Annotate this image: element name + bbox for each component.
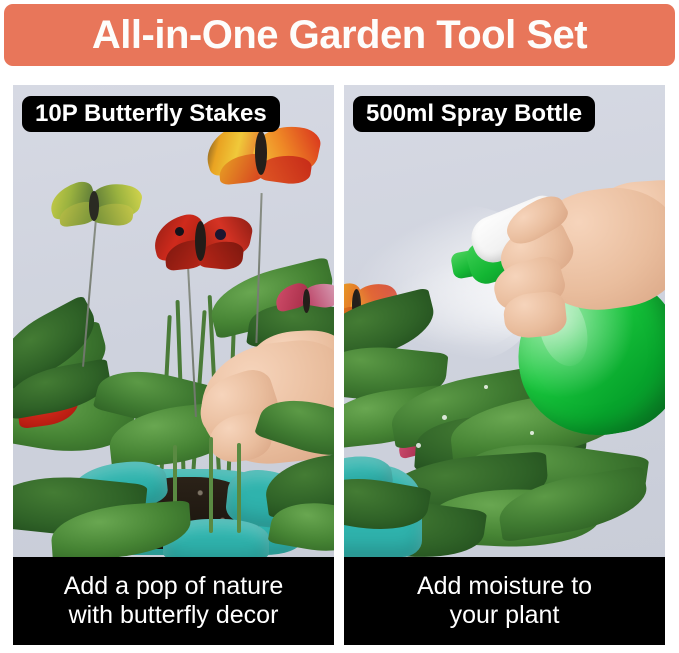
water-droplet <box>530 431 534 435</box>
water-droplet <box>416 443 421 448</box>
panel-row: 10P Butterfly Stakes Add a pop of nature… <box>13 85 666 645</box>
panel-spray-bottle: 500ml Spray Bottle Add moisture to your … <box>344 85 665 645</box>
photo-butterfly-stakes <box>13 85 334 557</box>
butterfly-stake-red <box>153 209 253 275</box>
butterfly-stake-small <box>275 281 334 321</box>
water-droplet <box>484 385 488 389</box>
product-image: All-in-One Garden Tool Set <box>0 0 679 653</box>
butterfly-body <box>89 191 99 221</box>
panel-label-spray-bottle: 500ml Spray Bottle <box>353 96 595 132</box>
panel-label-text: 500ml Spray Bottle <box>366 102 582 126</box>
panel-label-text: 10P Butterfly Stakes <box>35 102 267 126</box>
butterfly-body <box>303 289 310 313</box>
banner-title: All-in-One Garden Tool Set <box>92 15 587 55</box>
wing-spot <box>215 229 226 240</box>
panel-caption-text: Add a pop of nature with butterfly decor <box>58 572 290 631</box>
panel-butterfly-stakes: 10P Butterfly Stakes Add a pop of nature… <box>13 85 334 645</box>
stem <box>209 437 213 533</box>
stem <box>237 443 241 533</box>
header-banner: All-in-One Garden Tool Set <box>4 4 675 66</box>
butterfly-stake-yellow <box>49 181 143 231</box>
butterfly-body <box>195 221 206 261</box>
panel-caption-spray-bottle: Add moisture to your plant <box>344 557 665 645</box>
butterfly-body <box>255 131 267 175</box>
panel-label-butterfly-stakes: 10P Butterfly Stakes <box>22 96 280 132</box>
water-droplet <box>442 415 447 420</box>
wing-spot <box>175 227 184 236</box>
panel-caption-butterfly-stakes: Add a pop of nature with butterfly decor <box>13 557 334 645</box>
photo-spray-bottle <box>344 85 665 557</box>
panel-caption-text: Add moisture to your plant <box>411 572 598 631</box>
